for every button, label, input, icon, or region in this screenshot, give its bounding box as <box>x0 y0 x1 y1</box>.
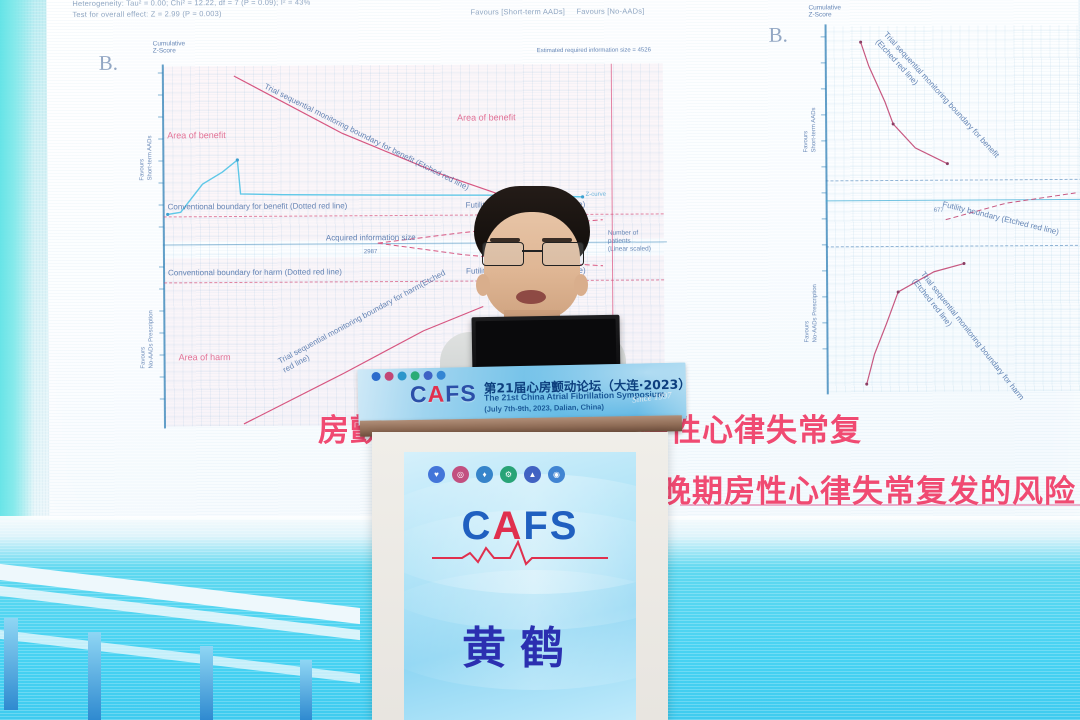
shield-icon <box>423 371 432 380</box>
y-axis-top-label-right: Favours Short-term AADs <box>803 107 818 152</box>
harm-boundary-label-right: Trial sequential monitoring boundary for… <box>909 270 1038 425</box>
area-of-harm-label-1: Area of harm <box>179 352 231 362</box>
target-heart-icon: ◎ <box>452 466 469 483</box>
ecg-waveform-icon <box>432 540 608 566</box>
y-axis-bottom-label-right: Favours No-AADs Prescription <box>804 284 819 342</box>
forest-overall-effect-text: Test for overall effect: Z = 2.99 (P = 0… <box>72 9 221 19</box>
overlay-headline-line-2: 晚期房性心律失常复发的风险 <box>660 466 1076 511</box>
cafs-logo-banner: CAFS <box>410 380 477 408</box>
cafs-logo-c: C <box>410 381 428 407</box>
z-curve-right <box>826 199 1080 202</box>
circle-outline-icon: ◉ <box>548 466 565 483</box>
podium-banner-logo-row <box>372 371 446 382</box>
benefit-boundary-right <box>825 23 1080 397</box>
tsa-chart-right: B. Cumulative Z-Score Favours Short-term… <box>746 1 1080 403</box>
crosshair-heart-icon <box>385 372 394 381</box>
y-axis-right <box>825 24 829 394</box>
chart-grid-right <box>825 25 1080 393</box>
conventional-benefit-line-right <box>825 179 1080 182</box>
podium: CAFS 第21届心房颤动论坛（大连·2023） The 21st China … <box>356 366 686 720</box>
heart-ecg-icon: ♥ <box>428 466 445 483</box>
forest-favours-right-label: Favours [No-AADs] <box>576 7 644 16</box>
shield-heart-icon <box>398 371 407 380</box>
cafs-logo-a: A <box>427 381 445 407</box>
heart-ecg-icon <box>372 372 381 381</box>
shield-heart-icon: ♦ <box>476 466 493 483</box>
conventional-harm-line-right <box>826 245 1080 248</box>
futility-marker-value-right: 677 <box>934 208 944 214</box>
y-axis-bottom-label-left: Favours No-AADs Prescription <box>140 310 155 368</box>
area-of-benefit-label-1: Area of benefit <box>167 130 226 140</box>
speaker-mouth <box>516 290 546 304</box>
speaker-glasses <box>482 242 582 265</box>
y-axis-title-right: Cumulative Z-Score <box>808 4 841 19</box>
y-axis-title-left: Cumulative Z-Score <box>153 40 186 55</box>
conventional-harm-label-left: Conventional boundary for harm (Dotted r… <box>168 267 342 277</box>
area-of-benefit-label-2: Area of benefit <box>457 112 516 122</box>
futility-label-right: Futility boundary (Etched red line) <box>941 200 1080 245</box>
cafs-logo-fs: FS <box>445 380 477 407</box>
podium-screen-logo-row: ♥ ◎ ♦ ⚙ ▲ ◉ <box>428 466 565 483</box>
gear-heart-icon <box>411 371 420 380</box>
harm-boundary-right <box>825 23 1080 397</box>
acquired-information-size-value: 2987 <box>364 249 377 255</box>
futility-boundary-right <box>825 23 1080 397</box>
y-axis-top-label-left: Favours Short-term AADs <box>139 135 154 180</box>
forest-favours-left-label: Favours [Short-term AADs] <box>470 7 565 17</box>
bridge-photo <box>0 560 360 720</box>
podium-body: ♥ ◎ ♦ ⚙ ▲ ◉ CAFS 黄鹤 <box>372 432 668 720</box>
y-axis-left <box>162 64 166 428</box>
podium-screen: ♥ ◎ ♦ ⚙ ▲ ◉ CAFS 黄鹤 <box>404 452 636 720</box>
benefit-boundary-label-right: Trial sequential monitoring boundary for… <box>873 30 1017 185</box>
panel-letter-right: B. <box>769 23 788 48</box>
required-info-size-label: Estimated required information size = 45… <box>537 47 651 54</box>
circle-icon <box>436 371 445 380</box>
harm-boundary-label-left: Trial sequential monitoring boundary for… <box>277 268 454 377</box>
conventional-benefit-label-left: Conventional boundary for benefit (Dotte… <box>168 201 348 211</box>
panel-letter-left: B. <box>99 51 118 76</box>
shield-outline-icon: ▲ <box>524 466 541 483</box>
acquired-information-size-label: Acquired information size <box>326 233 416 243</box>
forest-heterogeneity-text: Heterogeneity: Tau² = 0.00; Chi² = 12.22… <box>72 0 310 8</box>
gear-heart-icon: ⚙ <box>500 466 517 483</box>
presentation-photo: Heterogeneity: Tau² = 0.00; Chi² = 12.22… <box>0 0 1080 720</box>
speaker-name-display: 黄鹤 <box>404 612 636 676</box>
